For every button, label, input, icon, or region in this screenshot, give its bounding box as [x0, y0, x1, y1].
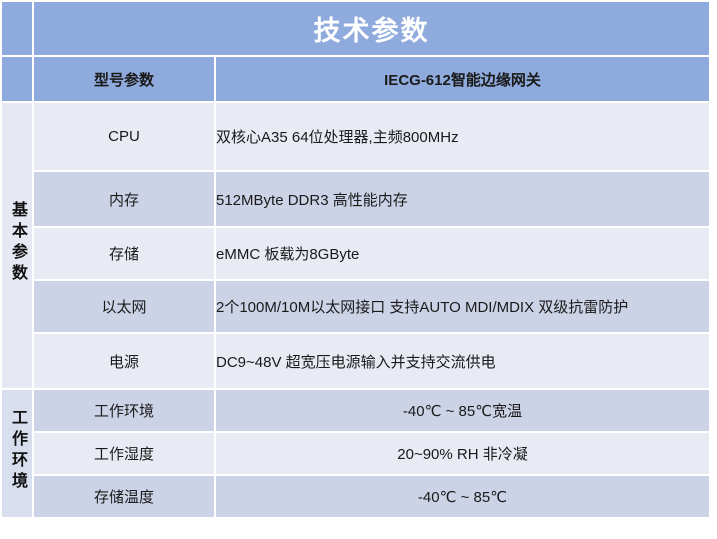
table-header-row: 型号参数 IECG-612智能边缘网关 [2, 57, 709, 101]
row-label: 内存 [34, 172, 214, 226]
table-row: 存储 eMMC 板载为8GByte [2, 228, 709, 279]
row-value: DC9~48V 超宽压电源输入并支持交流供电 [216, 334, 709, 388]
table-row: 以太网 2个100M/10M以太网接口 支持AUTO MDI/MDIX 双级抗雷… [2, 281, 709, 332]
row-label: 存储温度 [34, 476, 214, 517]
row-value: -40℃ ~ 85℃ [216, 476, 709, 517]
table-row: 电源 DC9~48V 超宽压电源输入并支持交流供电 [2, 334, 709, 388]
group-label-basic-text: 基本参数 [9, 201, 25, 285]
row-label: 以太网 [34, 281, 214, 332]
table-row: 工作湿度 20~90% RH 非冷凝 [2, 433, 709, 474]
group-label-environment: 工作环境 [2, 390, 32, 517]
header-corner-cell [2, 57, 32, 101]
table-title-row: 技术参数 [2, 2, 709, 55]
row-value: 20~90% RH 非冷凝 [216, 433, 709, 474]
row-label: 工作环境 [34, 390, 214, 431]
row-value: eMMC 板载为8GByte [216, 228, 709, 279]
row-value: 双核心A35 64位处理器,主频800MHz [216, 103, 709, 170]
table-row: 基本参数 CPU 双核心A35 64位处理器,主频800MHz [2, 103, 709, 170]
row-label: CPU [34, 103, 214, 170]
table-row: 工作环境 工作环境 -40℃ ~ 85℃宽温 [2, 390, 709, 431]
row-value: 512MByte DDR3 高性能内存 [216, 172, 709, 226]
title-corner-cell [2, 2, 32, 55]
tech-spec-table: 技术参数 型号参数 IECG-612智能边缘网关 基本参数 CPU 双核心A35… [0, 0, 711, 519]
row-value: 2个100M/10M以太网接口 支持AUTO MDI/MDIX 双级抗雷防护 [216, 281, 709, 332]
table-row: 存储温度 -40℃ ~ 85℃ [2, 476, 709, 517]
group-label-basic: 基本参数 [2, 103, 32, 388]
row-label: 电源 [34, 334, 214, 388]
header-param-label: 型号参数 [34, 57, 214, 101]
table-row: 内存 512MByte DDR3 高性能内存 [2, 172, 709, 226]
header-model-label: IECG-612智能边缘网关 [216, 57, 709, 101]
row-label: 工作湿度 [34, 433, 214, 474]
row-label: 存储 [34, 228, 214, 279]
row-value: -40℃ ~ 85℃宽温 [216, 390, 709, 431]
page-title: 技术参数 [34, 2, 709, 55]
group-label-environment-text: 工作环境 [9, 409, 25, 493]
